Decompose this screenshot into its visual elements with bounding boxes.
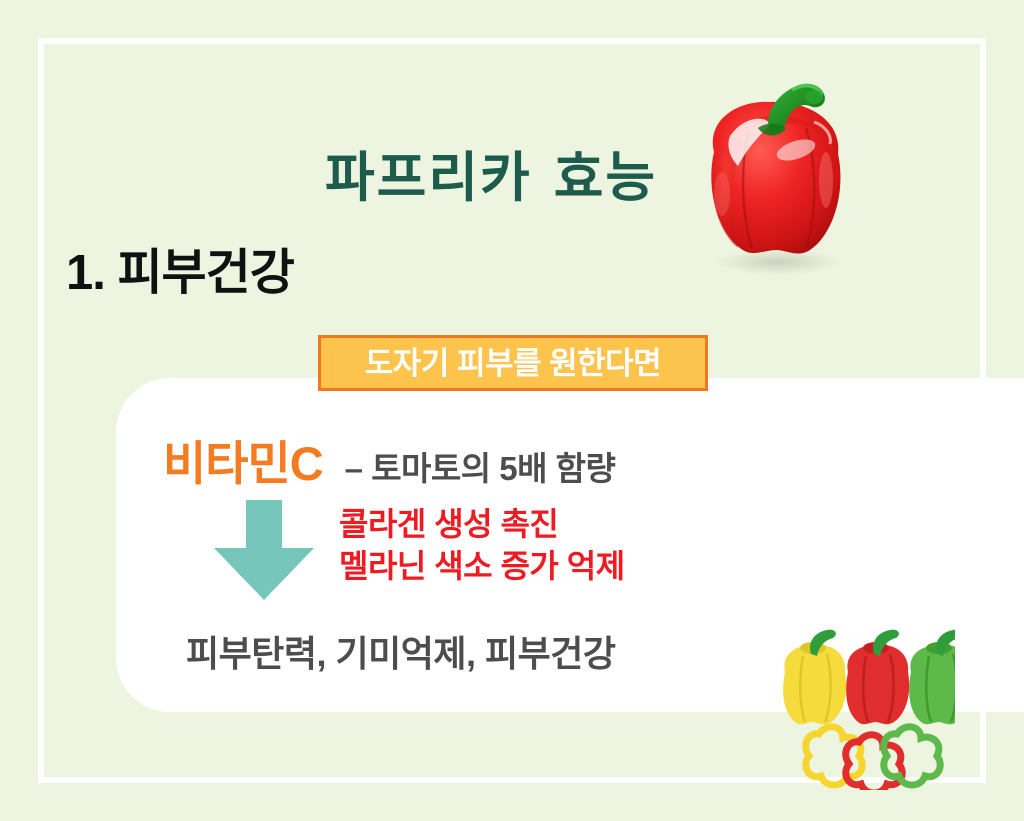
nutrient-row: 비타민C – 토마토의 5배 함량: [163, 425, 615, 494]
red-bell-pepper-icon: [686, 62, 866, 277]
section-heading: 1. 피부건강: [66, 233, 294, 304]
effect-line-2: 멜라닌 색소 증가 억제: [339, 545, 625, 587]
poster-title: 파프리카효능: [325, 133, 657, 212]
effect-line-1: 콜라겐 생성 촉진: [339, 503, 625, 545]
infographic-poster: 파프리카효능 1. 피부건강 도자기 피부를 원한다면 비타민C – 토마토의 …: [0, 0, 1024, 821]
result-summary: 피부탄력, 기미억제, 피부건강: [186, 625, 615, 677]
effects-list: 콜라겐 생성 촉진 멜라닌 색소 증가 억제: [339, 503, 625, 587]
down-arrow-icon: [210, 500, 318, 600]
nutrient-description: – 토마토의 5배 함량: [345, 442, 616, 490]
title-part-1: 파프리카: [325, 148, 532, 208]
badge-label: 도자기 피부를 원한다면: [365, 348, 661, 379]
highlight-badge: 도자기 피부를 원한다면: [318, 335, 708, 391]
pepper-trio-icon: [775, 610, 955, 790]
nutrient-label: 비타민C: [163, 425, 323, 494]
title-part-2: 효능: [554, 148, 657, 208]
